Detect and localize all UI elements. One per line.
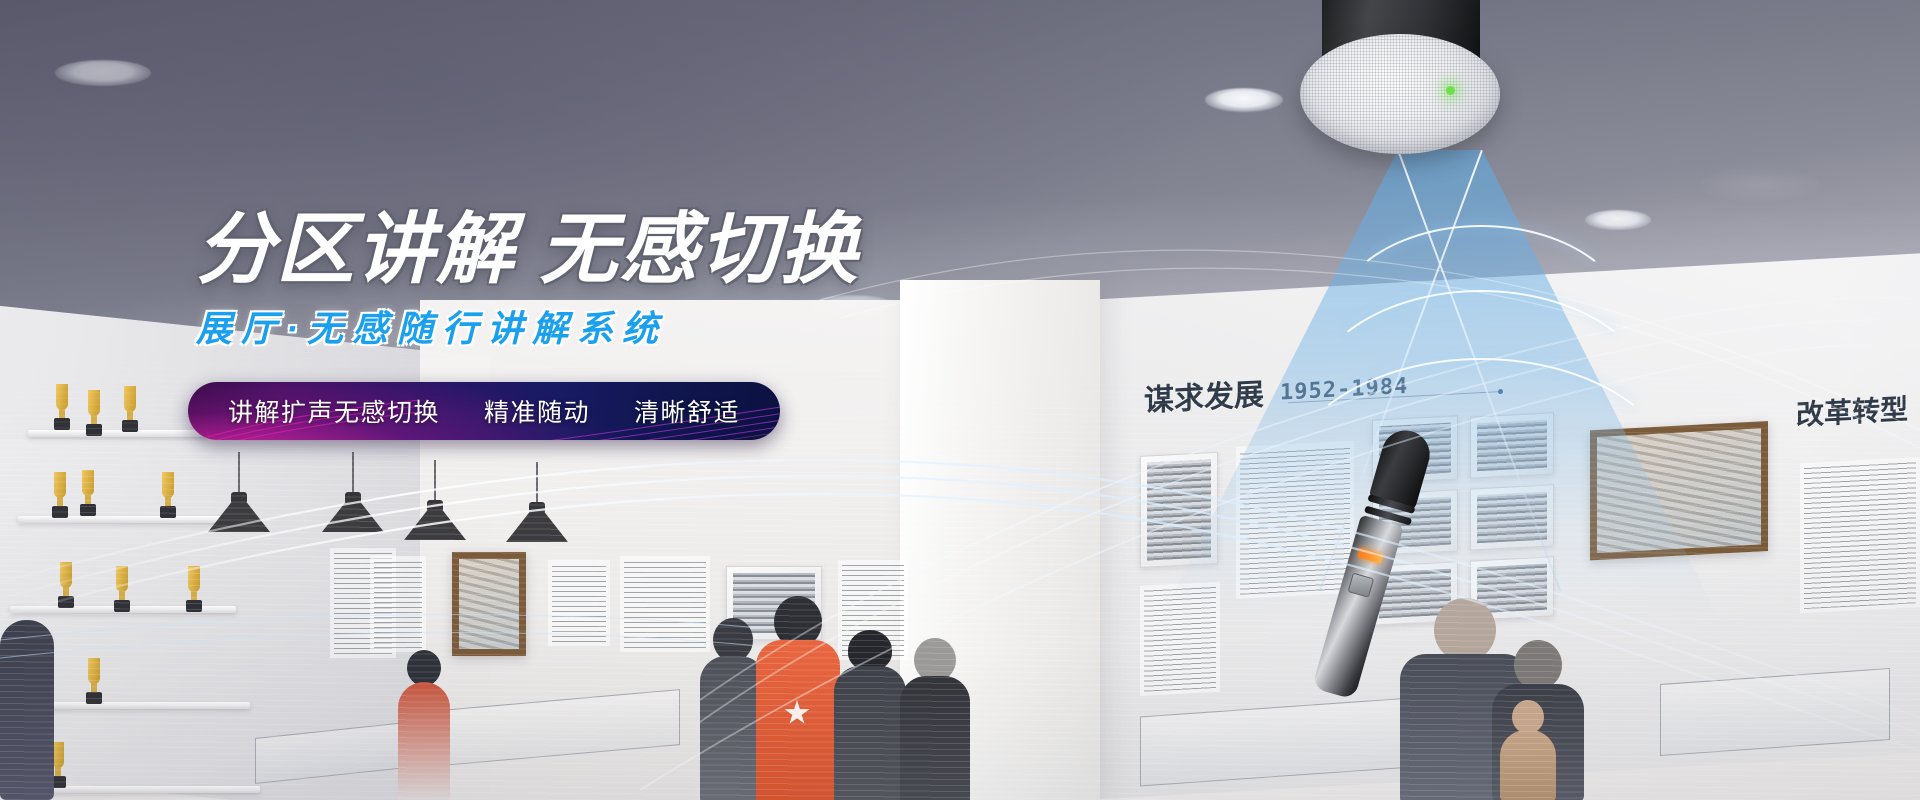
feature-item-2: 精准随动 [484, 393, 590, 429]
feature-pill: 讲解扩声无感切换 精准随动 清晰舒适 [188, 382, 780, 440]
speaker-status-led [1446, 86, 1455, 95]
ceiling-downlight [55, 60, 151, 86]
promo-banner: 谋求发展 1952-1984 改革转型 1984-2010 [0, 0, 1920, 800]
banner-headline: 分区讲解 无感切换 [196, 210, 1126, 290]
visitor-with-cap [834, 630, 906, 800]
banner-copy: 分区讲解 无感切换 展厅·无感随行讲解系统 [196, 210, 1126, 352]
ceiling-speaker [1300, 0, 1500, 171]
framed-portrait [452, 552, 526, 656]
wall-text-board [1800, 457, 1920, 613]
feature-item-1: 讲解扩声无感切换 [228, 393, 440, 429]
ceiling-downlight [1585, 210, 1651, 230]
visitor [398, 650, 450, 800]
visitor [0, 620, 54, 800]
exhibit-panel-title-2: 改革转型 [1796, 388, 1908, 434]
banner-subheadline: 展厅·无感随行讲解系统 [196, 300, 1126, 352]
speaker-grille [1300, 34, 1500, 154]
wall-text-board [620, 556, 710, 652]
wall-text-board [548, 560, 610, 646]
feature-item-3: 清晰舒适 [634, 393, 740, 429]
ceiling-downlight [1205, 88, 1283, 112]
visitor-orange-vest [756, 596, 840, 800]
visitor-elder [900, 638, 970, 800]
visitor-child [1500, 700, 1556, 800]
ceiling-air-vent [1700, 168, 1820, 202]
wall-text-board [370, 556, 426, 652]
exhibit-panel-title-1: 谋求发展 [1144, 369, 1264, 419]
